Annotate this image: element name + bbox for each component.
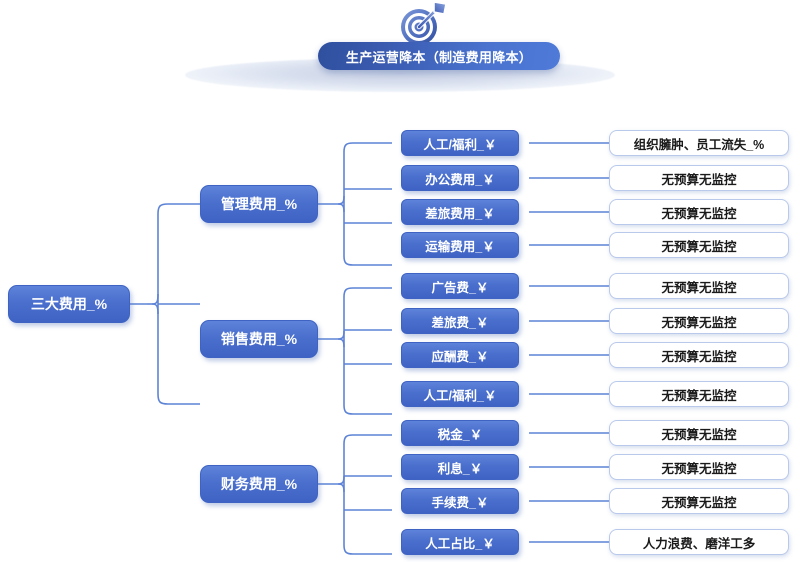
- outcome-1-2[interactable]: 无预算无监控: [609, 342, 789, 368]
- outcome-2-0[interactable]: 无预算无监控: [609, 420, 789, 446]
- node-item-0-1[interactable]: 办公费用_￥: [401, 165, 519, 191]
- outcome-1-1[interactable]: 无预算无监控: [609, 308, 789, 334]
- node-item-1-3-label: 人工/福利_￥: [424, 385, 497, 404]
- node-item-1-0-label: 广告费_￥: [432, 277, 489, 296]
- node-item-0-2-label: 差旅费用_￥: [425, 203, 494, 222]
- outcome-0-0-label: 组织臃肿、员工流失_%: [634, 134, 765, 153]
- node-group-1-label: 销售费用_%: [221, 329, 297, 349]
- node-item-1-0[interactable]: 广告费_￥: [401, 273, 519, 299]
- outcome-0-2[interactable]: 无预算无监控: [609, 199, 789, 225]
- node-item-0-2[interactable]: 差旅费用_￥: [401, 199, 519, 225]
- outcome-0-1[interactable]: 无预算无监控: [609, 165, 789, 191]
- node-root-label: 三大费用_%: [31, 294, 107, 314]
- outcome-1-1-label: 无预算无监控: [661, 312, 736, 331]
- node-item-2-0-label: 税金_￥: [438, 424, 482, 443]
- node-item-2-2[interactable]: 手续费_￥: [401, 488, 519, 514]
- node-item-0-1-label: 办公费用_￥: [425, 169, 494, 188]
- node-item-2-0[interactable]: 税金_￥: [401, 420, 519, 446]
- node-item-1-2-label: 应酬费_￥: [432, 346, 489, 365]
- outcome-2-3[interactable]: 人力浪费、磨洋工多: [609, 529, 789, 555]
- node-item-1-1[interactable]: 差旅费_￥: [401, 308, 519, 334]
- node-item-2-1-label: 利息_￥: [438, 458, 482, 477]
- node-root[interactable]: 三大费用_%: [8, 285, 130, 323]
- outcome-2-1[interactable]: 无预算无监控: [609, 454, 789, 480]
- outcome-0-3[interactable]: 无预算无监控: [609, 232, 789, 258]
- node-item-1-3[interactable]: 人工/福利_￥: [401, 381, 519, 407]
- node-group-0-label: 管理费用_%: [221, 194, 297, 214]
- node-group-0[interactable]: 管理费用_%: [200, 185, 318, 223]
- outcome-2-3-label: 人力浪费、磨洋工多: [643, 533, 756, 552]
- outcome-1-3-label: 无预算无监控: [661, 385, 736, 404]
- node-group-2[interactable]: 财务费用_%: [200, 465, 318, 503]
- outcome-1-3[interactable]: 无预算无监控: [609, 381, 789, 407]
- node-item-0-3-label: 运输费用_￥: [425, 236, 494, 255]
- outcome-0-3-label: 无预算无监控: [661, 236, 736, 255]
- node-item-1-1-label: 差旅费_￥: [432, 312, 489, 331]
- node-group-1[interactable]: 销售费用_%: [200, 320, 318, 358]
- outcome-0-1-label: 无预算无监控: [661, 169, 736, 188]
- outcome-2-1-label: 无预算无监控: [661, 458, 736, 477]
- node-item-0-0[interactable]: 人工/福利_￥: [401, 130, 519, 156]
- node-item-2-2-label: 手续费_￥: [432, 492, 489, 511]
- outcome-2-2[interactable]: 无预算无监控: [609, 488, 789, 514]
- diagram-title-pill: 生产运营降本（制造费用降本）: [318, 42, 560, 70]
- outcome-1-0[interactable]: 无预算无监控: [609, 273, 789, 299]
- node-item-0-3[interactable]: 运输费用_￥: [401, 232, 519, 258]
- node-item-0-0-label: 人工/福利_￥: [424, 134, 497, 153]
- outcome-1-2-label: 无预算无监控: [661, 346, 736, 365]
- node-item-2-3-label: 人工占比_￥: [425, 533, 494, 552]
- node-item-2-1[interactable]: 利息_￥: [401, 454, 519, 480]
- outcome-0-0[interactable]: 组织臃肿、员工流失_%: [609, 130, 789, 156]
- outcome-2-2-label: 无预算无监控: [661, 492, 736, 511]
- node-item-1-2[interactable]: 应酬费_￥: [401, 342, 519, 368]
- diagram-canvas: 生产运营降本（制造费用降本）: [0, 0, 800, 562]
- outcome-1-0-label: 无预算无监控: [661, 277, 736, 296]
- outcome-2-0-label: 无预算无监控: [661, 424, 736, 443]
- outcome-0-2-label: 无预算无监控: [661, 203, 736, 222]
- node-item-2-3[interactable]: 人工占比_￥: [401, 529, 519, 555]
- diagram-title-text: 生产运营降本（制造费用降本）: [346, 47, 532, 66]
- node-group-2-label: 财务费用_%: [221, 474, 297, 494]
